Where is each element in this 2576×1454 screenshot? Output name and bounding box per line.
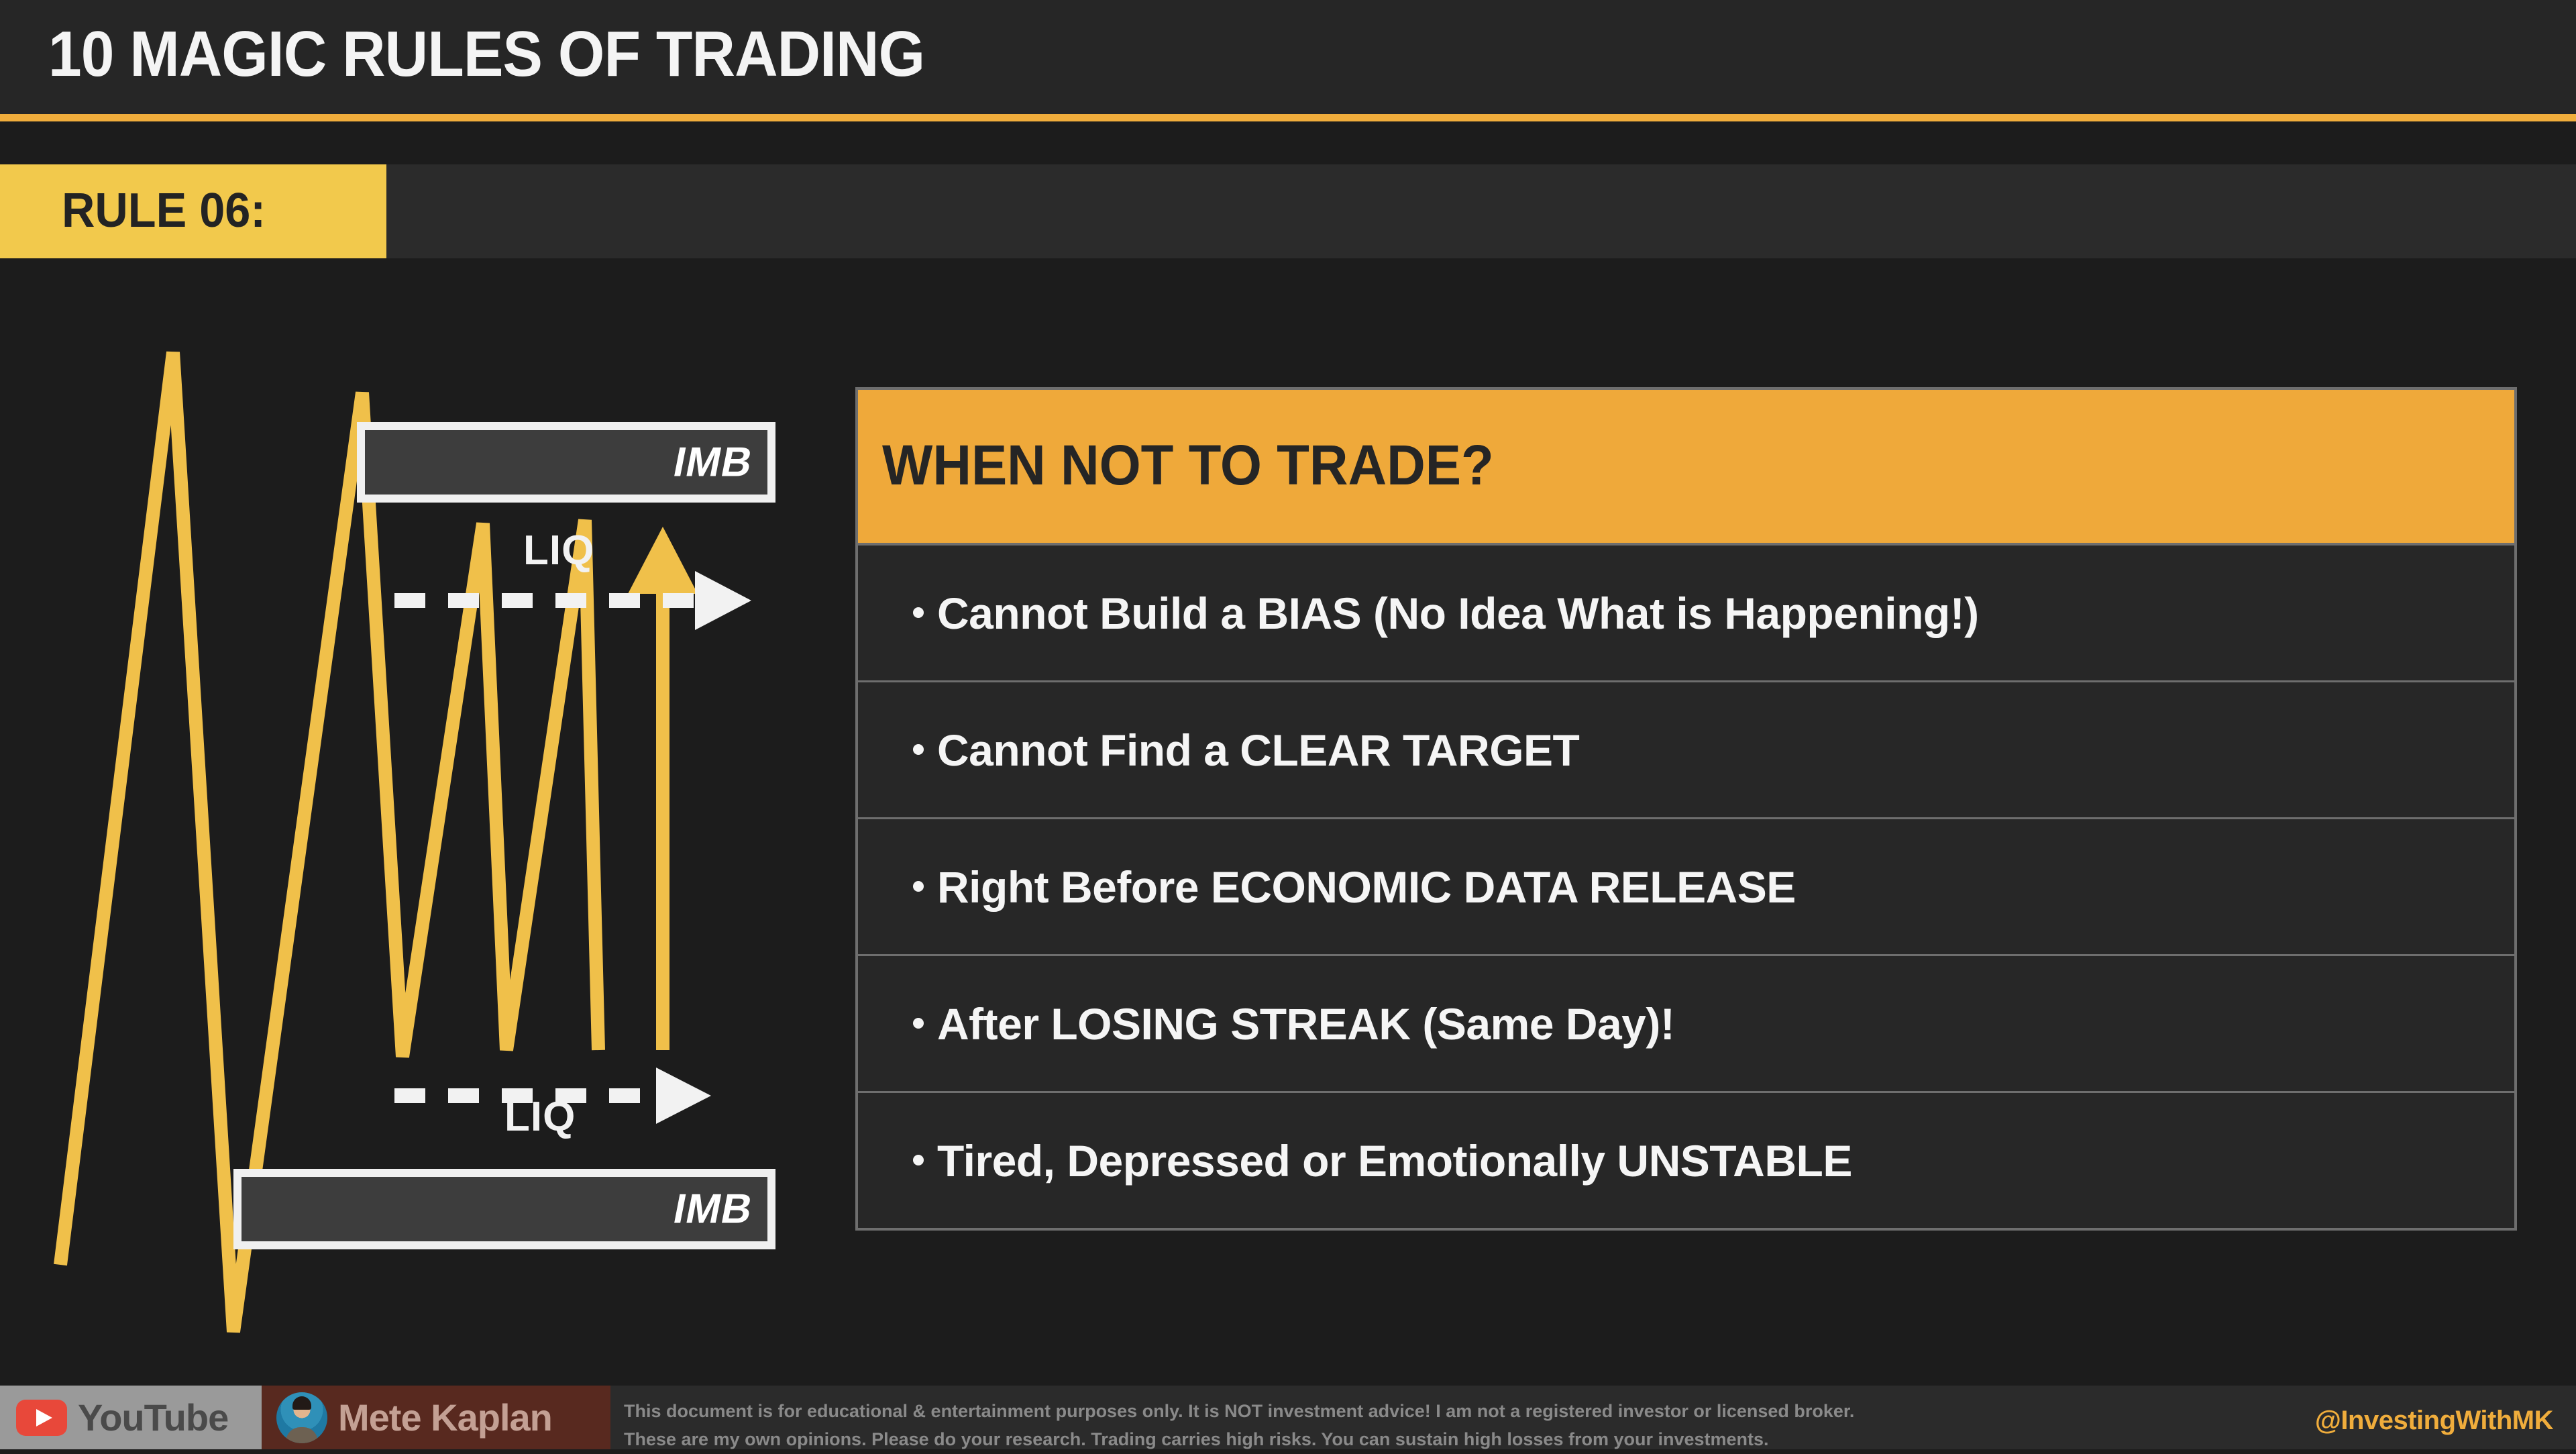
- when-not-to-trade-panel: WHEN NOT TO TRADE? Cannot Build a BIAS (…: [855, 387, 2517, 1231]
- page-header: 10 MAGIC RULES OF TRADING: [0, 0, 2576, 114]
- youtube-badge[interactable]: YouTube: [0, 1386, 262, 1449]
- bullet-icon: [913, 881, 924, 892]
- disclaimer-line-1: This document is for educational & enter…: [624, 1398, 2167, 1426]
- imbalance-zone-top-fill: IMB: [365, 430, 767, 495]
- table-row: Tired, Depressed or Emotionally UNSTABLE: [858, 1093, 2514, 1228]
- table-row-label: Right Before ECONOMIC DATA RELEASE: [937, 862, 1796, 912]
- table-row-text: Cannot Build a BIAS (No Idea What is Hap…: [913, 588, 1979, 639]
- bullet-icon: [913, 607, 924, 618]
- table-row: After LOSING STREAK (Same Day)!: [858, 956, 2514, 1093]
- panel-header: WHEN NOT TO TRADE?: [858, 390, 2514, 546]
- bullet-icon: [913, 1155, 924, 1165]
- table-row-text: After LOSING STREAK (Same Day)!: [913, 998, 1674, 1049]
- youtube-play-icon: [16, 1400, 67, 1436]
- imbalance-zone-bottom-fill: IMB: [241, 1177, 767, 1241]
- liq-bottom-label: LIQ: [504, 1093, 576, 1141]
- table-row-label: Cannot Find a CLEAR TARGET: [937, 725, 1579, 775]
- disclaimer-line-2: These are my own opinions. Please do you…: [624, 1426, 2167, 1454]
- liq-top-label: LIQ: [523, 527, 594, 574]
- main-stage: IMB IMB LIQ LIQ WHEN NOT TO TRADE? Canno…: [0, 258, 2576, 1386]
- disclaimer-text: This document is for educational & enter…: [624, 1398, 2167, 1454]
- page-title: 10 MAGIC RULES OF TRADING: [48, 17, 924, 91]
- imbalance-zone-top: IMB: [357, 422, 775, 503]
- imbalance-zone-bottom: IMB: [233, 1169, 775, 1249]
- social-handle: @InvestingWithMK: [2315, 1406, 2553, 1436]
- table-row-text: Right Before ECONOMIC DATA RELEASE: [913, 862, 1796, 913]
- imb-top-label: IMB: [669, 439, 757, 486]
- table-row: Cannot Build a BIAS (No Idea What is Hap…: [858, 546, 2514, 682]
- imb-bottom-label: IMB: [669, 1186, 757, 1233]
- header-accent-bar: [0, 114, 2576, 121]
- table-row-text: Cannot Find a CLEAR TARGET: [913, 725, 1579, 776]
- table-row: Cannot Find a CLEAR TARGET: [858, 682, 2514, 819]
- table-row-label: After LOSING STREAK (Same Day)!: [937, 999, 1674, 1049]
- price-action-chart: IMB IMB LIQ LIQ: [0, 258, 832, 1386]
- table-row-text: Tired, Depressed or Emotionally UNSTABLE: [913, 1135, 1852, 1186]
- bullet-icon: [913, 1018, 924, 1029]
- bullet-icon: [913, 744, 924, 755]
- footer-bar: YouTube Mete Kaplan This document is for…: [0, 1386, 2576, 1449]
- rule-banner: AVOID TRADE TOTALLY: [0, 164, 2576, 258]
- youtube-label: YouTube: [78, 1396, 228, 1439]
- channel-badge[interactable]: Mete Kaplan: [262, 1386, 610, 1449]
- panel-header-title: WHEN NOT TO TRADE?: [882, 433, 1494, 498]
- channel-name: Mete Kaplan: [338, 1396, 552, 1439]
- table-row: Right Before ECONOMIC DATA RELEASE: [858, 819, 2514, 956]
- table-row-label: Cannot Build a BIAS (No Idea What is Hap…: [937, 588, 1979, 638]
- rule-number-badge: RULE 06:: [0, 164, 386, 258]
- rule-number-label: RULE 06:: [62, 183, 266, 238]
- avatar: [276, 1392, 327, 1443]
- table-row-label: Tired, Depressed or Emotionally UNSTABLE: [937, 1136, 1852, 1186]
